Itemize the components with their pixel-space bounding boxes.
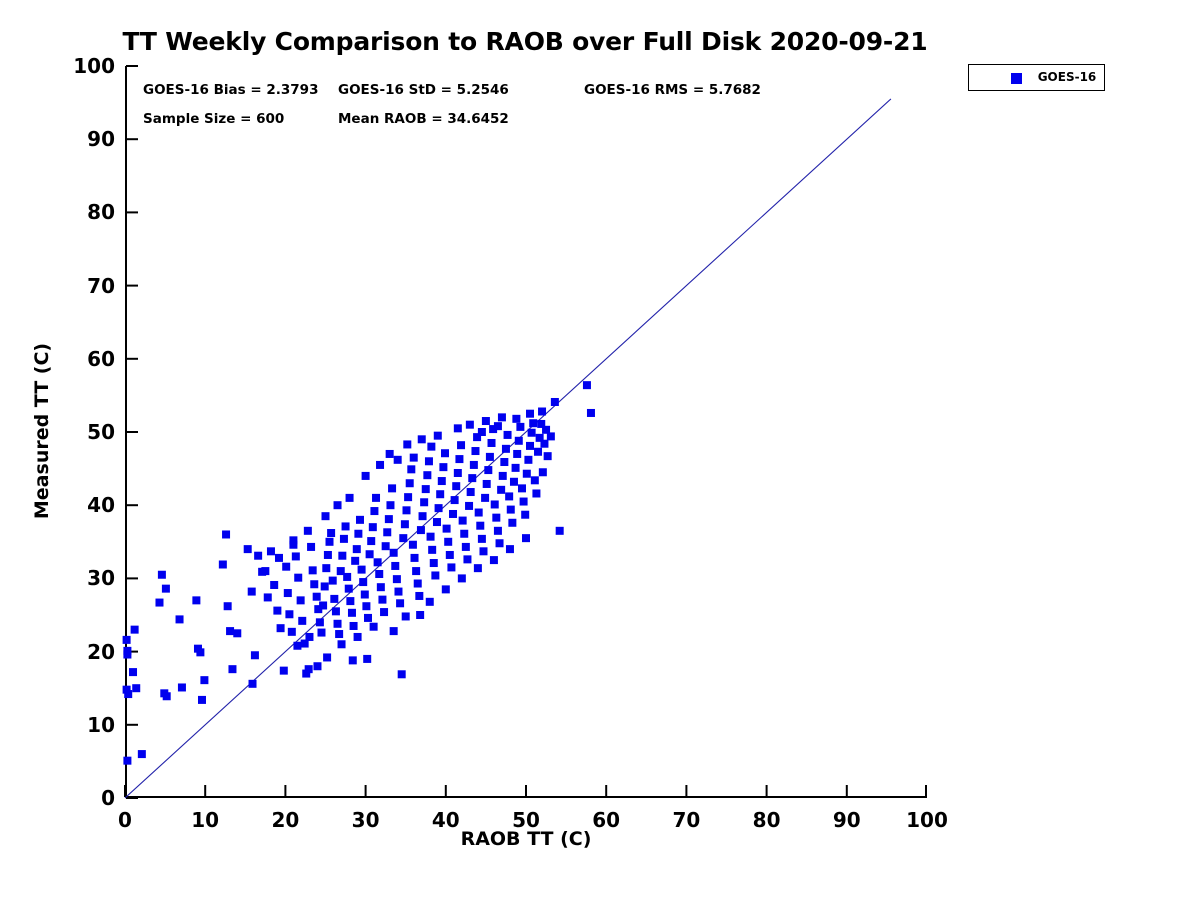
scatter-marker [176, 615, 184, 623]
y-tick-label: 70 [53, 274, 115, 298]
scatter-marker [420, 498, 428, 506]
scatter-marker [394, 588, 402, 596]
scatter-marker [219, 560, 227, 568]
scatter-marker [462, 543, 470, 551]
figure-canvas: TT Weekly Comparison to RAOB over Full D… [0, 0, 1200, 900]
scatter-marker [457, 441, 465, 449]
scatter-marker [455, 455, 463, 463]
stat-std: GOES-16 StD = 5.2546 [338, 82, 509, 98]
scatter-marker [508, 519, 516, 527]
scatter-marker [342, 522, 350, 530]
scatter-marker [502, 445, 510, 453]
scatter-marker [338, 552, 346, 560]
scatter-marker [452, 482, 460, 490]
scatter-marker [309, 566, 317, 574]
scatter-marker [410, 454, 418, 462]
scatter-marker [490, 556, 498, 564]
scatter-marker [305, 633, 313, 641]
scatter-marker [377, 583, 385, 591]
legend[interactable]: GOES-16 [968, 64, 1105, 91]
scatter-marker [471, 447, 479, 455]
scatter-marker [335, 630, 343, 638]
scatter-marker [361, 591, 369, 599]
y-axis-label: Measured TT (C) [31, 341, 53, 521]
scatter-marker [196, 648, 204, 656]
scatter-marker [515, 437, 523, 445]
scatter-marker [520, 498, 528, 506]
scatter-points [123, 381, 595, 765]
scatter-marker [500, 458, 508, 466]
scatter-marker [526, 410, 534, 418]
scatter-marker [200, 676, 208, 684]
scatter-marker [162, 585, 170, 593]
scatter-marker [434, 432, 442, 440]
scatter-marker [123, 636, 131, 644]
scatter-marker [425, 457, 433, 465]
scatter-marker [441, 449, 449, 457]
scatter-marker [280, 667, 288, 675]
scatter-marker [385, 515, 393, 523]
scatter-marker [431, 571, 439, 579]
scatter-marker [454, 424, 462, 432]
scatter-marker [359, 578, 367, 586]
scatter-marker [322, 564, 330, 572]
x-axis-label: RAOB TT (C) [125, 828, 927, 850]
plot-svg [125, 66, 927, 798]
scatter-marker [349, 656, 357, 664]
scatter-marker [178, 683, 186, 691]
stat-sample-size: Sample Size = 600 [143, 111, 284, 127]
y-tick-label: 20 [53, 640, 115, 664]
scatter-marker [414, 580, 422, 588]
scatter-marker [329, 577, 337, 585]
scatter-marker [370, 623, 378, 631]
scatter-marker [507, 506, 515, 514]
scatter-marker [264, 593, 272, 601]
scatter-marker [155, 599, 163, 607]
scatter-marker [383, 528, 391, 536]
scatter-marker [551, 398, 559, 406]
scatter-marker [522, 534, 530, 542]
scatter-marker [367, 537, 375, 545]
scatter-marker [285, 610, 293, 618]
scatter-marker [321, 582, 329, 590]
scatter-marker [222, 530, 230, 538]
scatter-marker [540, 440, 548, 448]
scatter-marker [474, 564, 482, 572]
scatter-marker [415, 592, 423, 600]
scatter-marker [506, 545, 514, 553]
scatter-marker [123, 757, 131, 765]
scatter-marker [523, 470, 531, 478]
scatter-marker [348, 609, 356, 617]
scatter-marker [521, 511, 529, 519]
scatter-marker [481, 494, 489, 502]
scatter-marker [226, 627, 234, 635]
scatter-marker [293, 642, 301, 650]
y-tick-label: 90 [53, 127, 115, 151]
scatter-marker [192, 596, 200, 604]
y-tick-label: 100 [53, 54, 115, 78]
scatter-marker [465, 502, 473, 510]
scatter-marker [498, 413, 506, 421]
scatter-marker [402, 612, 410, 620]
scatter-marker [332, 607, 340, 615]
scatter-marker [528, 429, 536, 437]
scatter-marker [289, 541, 297, 549]
scatter-marker [351, 557, 359, 565]
scatter-marker [398, 670, 406, 678]
y-tick-label: 30 [53, 566, 115, 590]
stat-rms: GOES-16 RMS = 5.7682 [584, 82, 761, 98]
scatter-marker [340, 535, 348, 543]
scatter-marker [244, 545, 252, 553]
scatter-marker [316, 618, 324, 626]
scatter-marker [403, 440, 411, 448]
scatter-marker [436, 490, 444, 498]
scatter-marker [444, 538, 452, 546]
scatter-marker [422, 485, 430, 493]
scatter-marker [277, 624, 285, 632]
scatter-marker [479, 547, 487, 555]
legend-label-goes-16: GOES-16 [1035, 70, 1099, 84]
scatter-marker [518, 484, 526, 492]
scatter-marker [482, 417, 490, 425]
scatter-marker [512, 464, 520, 472]
scatter-marker [388, 484, 396, 492]
scatter-marker [478, 535, 486, 543]
scatter-marker [294, 574, 302, 582]
scatter-marker [275, 554, 283, 562]
scatter-marker [386, 501, 394, 509]
scatter-marker [539, 468, 547, 476]
scatter-marker [466, 421, 474, 429]
scatter-marker [449, 510, 457, 518]
scatter-marker [459, 517, 467, 525]
scatter-marker [526, 442, 534, 450]
scatter-marker [512, 415, 520, 423]
scatter-marker [129, 668, 137, 676]
scatter-marker [468, 474, 476, 482]
scatter-marker [394, 456, 402, 464]
scatter-marker [426, 598, 434, 606]
scatter-marker [228, 665, 236, 673]
scatter-marker [476, 522, 484, 530]
scatter-marker [251, 651, 259, 659]
scatter-marker [282, 563, 290, 571]
scatter-marker [254, 552, 262, 560]
legend-swatch-goes-16 [1011, 73, 1022, 84]
plot-area: 0102030405060708090100 01020304050607080… [125, 66, 927, 798]
scatter-marker [346, 597, 354, 605]
scatter-marker [124, 690, 132, 698]
scatter-marker [409, 541, 417, 549]
y-tick-label: 40 [53, 493, 115, 517]
scatter-marker [427, 533, 435, 541]
scatter-marker [529, 419, 537, 427]
scatter-marker [362, 472, 370, 480]
scatter-marker [313, 662, 321, 670]
scatter-marker [478, 428, 486, 436]
scatter-marker [446, 551, 454, 559]
scatter-marker [435, 504, 443, 512]
scatter-marker [386, 450, 394, 458]
scatter-marker [249, 680, 257, 688]
scatter-marker [454, 469, 462, 477]
scatter-marker [587, 409, 595, 417]
scatter-marker [404, 493, 412, 501]
stat-mean-raob: Mean RAOB = 34.6452 [338, 111, 509, 127]
scatter-marker [419, 512, 427, 520]
scatter-marker [313, 593, 321, 601]
scatter-marker [305, 665, 313, 673]
scatter-marker [390, 549, 398, 557]
scatter-marker [372, 494, 380, 502]
scatter-marker [338, 640, 346, 648]
y-tick-label: 60 [53, 347, 115, 371]
scatter-marker [198, 696, 206, 704]
scatter-marker [334, 620, 342, 628]
scatter-marker [273, 607, 281, 615]
scatter-marker [411, 554, 419, 562]
scatter-marker [423, 471, 431, 479]
scatter-marker [261, 567, 269, 575]
scatter-marker [492, 514, 500, 522]
scatter-marker [391, 562, 399, 570]
scatter-marker [407, 465, 415, 473]
scatter-marker [390, 627, 398, 635]
scatter-marker [524, 456, 532, 464]
scatter-marker [224, 602, 232, 610]
scatter-marker [510, 478, 518, 486]
stat-bias: GOES-16 Bias = 2.3793 [143, 82, 318, 98]
scatter-marker [131, 626, 139, 634]
y-tick-label: 50 [53, 420, 115, 444]
scatter-marker [322, 512, 330, 520]
scatter-marker [433, 518, 441, 526]
scatter-marker [350, 622, 358, 630]
scatter-marker [323, 653, 331, 661]
scatter-marker [334, 501, 342, 509]
scatter-marker [403, 506, 411, 514]
scatter-marker [288, 628, 296, 636]
scatter-marker [494, 422, 502, 430]
scatter-marker [370, 507, 378, 515]
scatter-marker [233, 629, 241, 637]
scatter-marker [248, 588, 256, 596]
scatter-marker [292, 552, 300, 560]
scatter-marker [460, 530, 468, 538]
scatter-marker [319, 601, 327, 609]
scatter-marker [401, 520, 409, 528]
scatter-marker [531, 476, 539, 484]
scatter-marker [427, 443, 435, 451]
page-title: TT Weekly Comparison to RAOB over Full D… [0, 27, 1050, 56]
scatter-marker [132, 684, 140, 692]
scatter-marker [378, 596, 386, 604]
scatter-marker [438, 477, 446, 485]
scatter-marker [324, 551, 332, 559]
scatter-marker [304, 527, 312, 535]
scatter-marker [538, 408, 546, 416]
scatter-marker [534, 448, 542, 456]
scatter-marker [556, 527, 564, 535]
scatter-marker [418, 435, 426, 443]
scatter-marker [439, 463, 447, 471]
scatter-marker [458, 574, 466, 582]
scatter-marker [442, 585, 450, 593]
scatter-marker [363, 655, 371, 663]
scatter-marker [376, 461, 384, 469]
scatter-marker [412, 567, 420, 575]
scatter-marker [396, 599, 404, 607]
scatter-marker [496, 539, 504, 547]
scatter-marker [516, 423, 524, 431]
scatter-marker [430, 559, 438, 567]
scatter-marker [317, 629, 325, 637]
scatter-marker [447, 563, 455, 571]
scatter-marker [380, 608, 388, 616]
scatter-marker [393, 575, 401, 583]
y-tick-label: 10 [53, 713, 115, 737]
scatter-marker [382, 542, 390, 550]
scatter-marker [443, 525, 451, 533]
scatter-marker [475, 509, 483, 517]
scatter-marker [467, 488, 475, 496]
scatter-marker [158, 571, 166, 579]
scatter-marker [356, 516, 364, 524]
scatter-marker [491, 500, 499, 508]
scatter-marker [375, 570, 383, 578]
y-tick-label: 0 [53, 786, 115, 810]
scatter-marker [330, 595, 338, 603]
scatter-marker [488, 439, 496, 447]
scatter-marker [298, 617, 306, 625]
scatter-marker [416, 611, 424, 619]
scatter-marker [364, 614, 372, 622]
scatter-marker [366, 550, 374, 558]
scatter-marker [343, 573, 351, 581]
scatter-marker [123, 651, 131, 659]
scatter-marker [369, 523, 377, 531]
scatter-marker [494, 527, 502, 535]
scatter-marker [428, 546, 436, 554]
scatter-marker [417, 526, 425, 534]
scatter-marker [374, 558, 382, 566]
scatter-marker [358, 566, 366, 574]
scatter-marker [138, 750, 146, 758]
scatter-marker [583, 381, 591, 389]
scatter-marker [532, 489, 540, 497]
scatter-marker [326, 538, 334, 546]
scatter-marker [544, 452, 552, 460]
y-tick-label: 80 [53, 200, 115, 224]
scatter-marker [505, 492, 513, 500]
scatter-marker [307, 543, 315, 551]
scatter-marker [362, 602, 370, 610]
scatter-marker [345, 585, 353, 593]
scatter-marker [354, 530, 362, 538]
scatter-marker [346, 494, 354, 502]
scatter-marker [406, 479, 414, 487]
scatter-marker [484, 466, 492, 474]
scatter-marker [353, 545, 361, 553]
scatter-marker [470, 461, 478, 469]
scatter-marker [463, 555, 471, 563]
scatter-marker [451, 496, 459, 504]
scatter-marker [399, 534, 407, 542]
scatter-marker [497, 486, 505, 494]
scatter-marker [327, 529, 335, 537]
scatter-marker [267, 547, 275, 555]
scatter-marker [499, 472, 507, 480]
scatter-marker [270, 581, 278, 589]
scatter-marker [513, 450, 521, 458]
scatter-marker [504, 431, 512, 439]
scatter-marker [310, 580, 318, 588]
scatter-marker [547, 432, 555, 440]
scatter-marker [297, 596, 305, 604]
scatter-marker [354, 633, 362, 641]
scatter-marker [284, 589, 292, 597]
scatter-marker [483, 480, 491, 488]
scatter-marker [163, 692, 171, 700]
scatter-marker [486, 453, 494, 461]
